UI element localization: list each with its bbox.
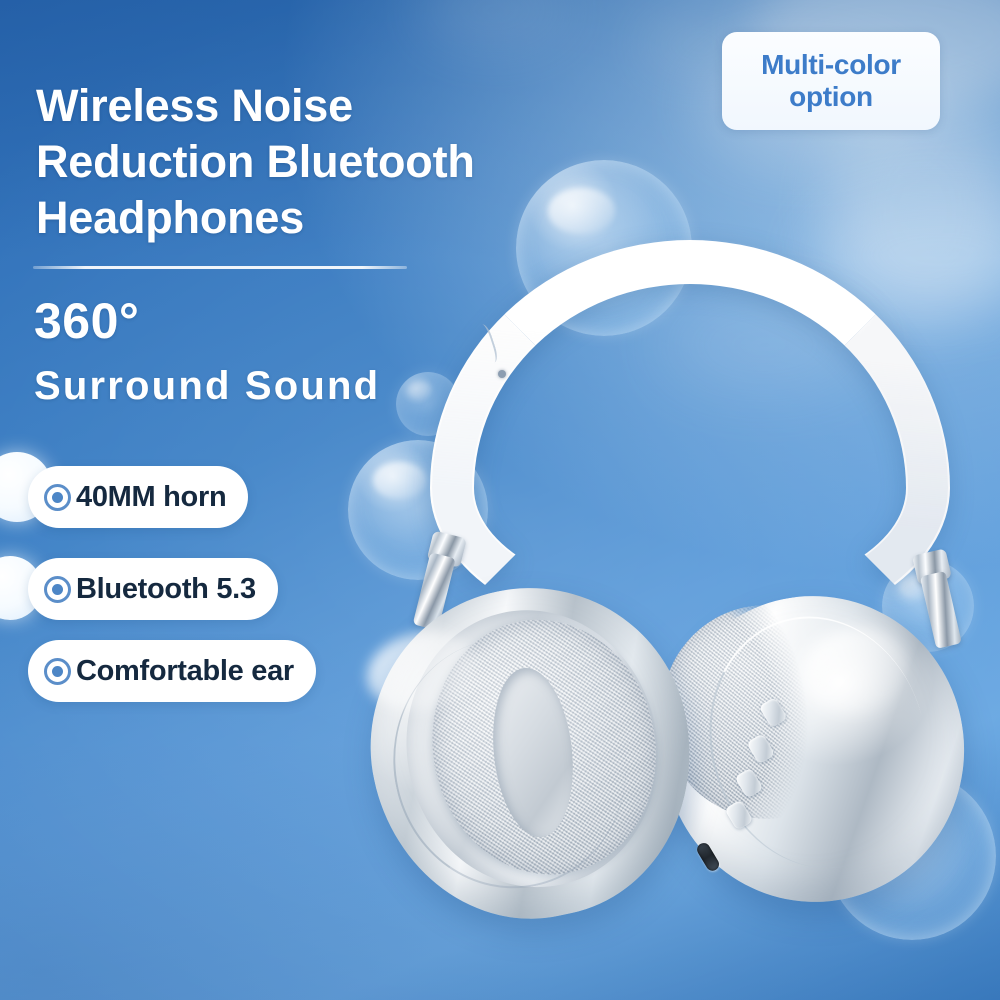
radio-dot-icon: [44, 658, 71, 685]
bubble-icon: [348, 440, 488, 580]
product-poster: Wireless Noise Reduction Bluetooth Headp…: [0, 0, 1000, 1000]
page-title: Wireless Noise Reduction Bluetooth Headp…: [36, 78, 616, 245]
feature-pill-label: Comfortable ear: [76, 655, 294, 688]
multi-color-option-badge[interactable]: Multi-color option: [722, 32, 940, 130]
feature-pill-comfortable-ear[interactable]: Comfortable ear: [28, 640, 316, 702]
feature-pill-label: 40MM horn: [76, 481, 226, 514]
radio-dot-icon: [44, 576, 71, 603]
feature-pill-label: Bluetooth 5.3: [76, 573, 256, 606]
feature-pill-40mm-horn[interactable]: 40MM horn: [28, 466, 248, 528]
badge-line-1: Multi-color: [761, 49, 901, 81]
headline-line-2: Reduction Bluetooth: [36, 134, 616, 190]
bubble-icon: [396, 372, 460, 436]
feature-pill-bluetooth[interactable]: Bluetooth 5.3: [28, 558, 278, 620]
headline-line-3: Headphones: [36, 190, 616, 246]
headline-divider: [33, 266, 407, 269]
radio-dot-icon: [44, 484, 71, 511]
subheading-primary: 360°: [34, 296, 139, 346]
headline-line-1: Wireless Noise: [36, 78, 616, 134]
badge-line-2: option: [789, 81, 873, 113]
subheading-secondary: Surround Sound: [34, 366, 380, 406]
